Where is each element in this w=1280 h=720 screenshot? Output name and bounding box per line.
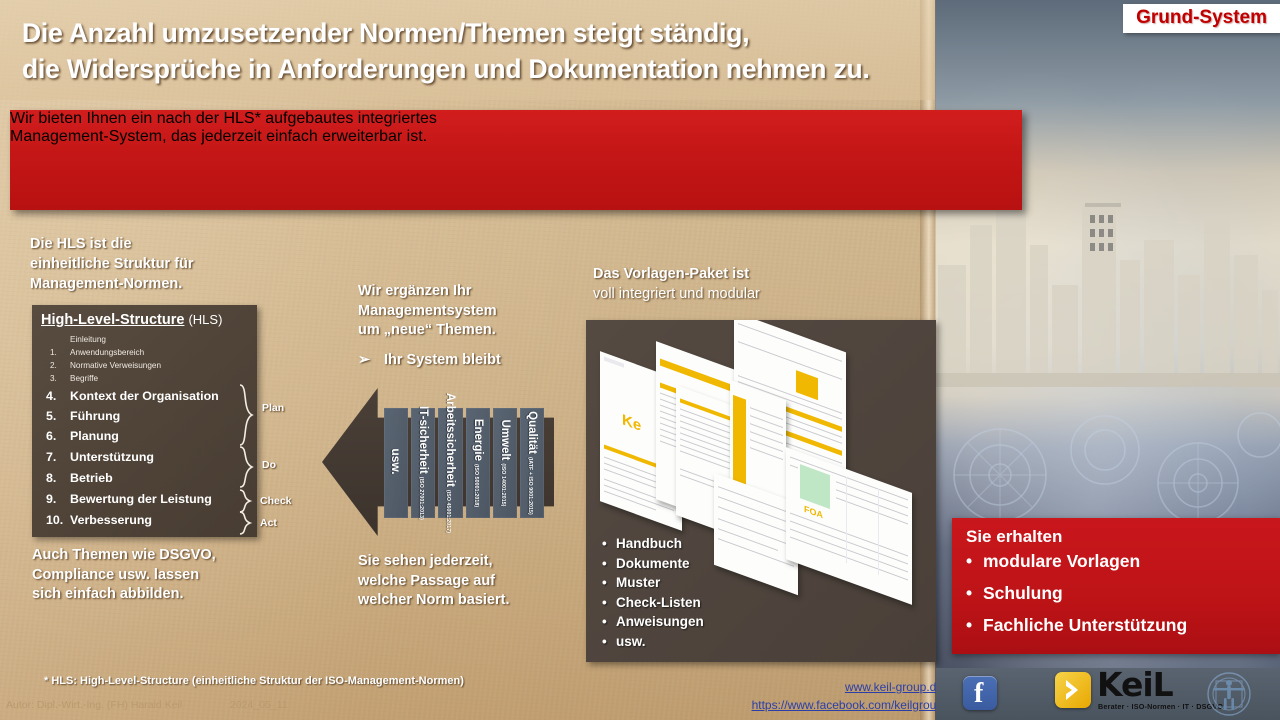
hls-major-label: Bewertung der Leistung [70,492,212,506]
hls-major-num: 6. [46,429,70,443]
list-item: •Anweisungen [602,612,704,632]
gears-graphic [930,395,1280,535]
hls-minor-item: 3.Begriffe [50,374,98,383]
left-note-line-1: Auch Themen wie DSGVO, [32,546,216,566]
bullet-icon: • [966,551,983,572]
pdca-label-check: Check [260,495,292,507]
bullet-icon: • [602,573,616,593]
docs-item-label: Muster [616,575,660,590]
hls-minor-item: Einleitung [50,335,106,344]
bullet-icon: • [602,612,616,632]
slide-canvas: Die Anzahl umzusetzender Normen/Themen s… [0,0,1280,720]
standard-bar-sub: (ISO 14001:2015) [500,463,506,506]
left-intro-line-3: Management-Normen. [30,274,194,294]
hls-minor-item: 2.Normative Verweisungen [50,361,161,370]
hls-major-label: Verbesserung [70,513,152,527]
title-line-2: die Widersprüche in Anforderungen und Do… [22,52,1022,88]
list-item: •Muster [602,573,704,593]
list-item: •modulare Vorlagen [966,551,1140,572]
docs-item-list: •Handbuch •Dokumente •Muster •Check-List… [602,534,704,651]
standard-bar-label: Qualität [526,411,538,454]
bullet-icon: • [966,583,983,604]
docs-item-label: usw. [616,634,646,649]
standard-bar-qualitaet: Qualität(IATF + ISO 9001:2015) [520,408,544,518]
standard-bar-energie: Energie(ISO 50001:2018) [466,408,490,518]
brand-wordmark: KeiL [1097,668,1173,701]
arrow-bullet-icon: ➢ [358,351,384,371]
bullet-icon: • [602,554,616,574]
footnote-text: * HLS: High-Level-Structure (einheitlich… [44,675,464,687]
website-link[interactable]: www.keil-group.de [703,678,943,696]
docs-item-label: Dokumente [616,556,690,571]
docs-title-line-2: voll integriert und modular [593,285,760,305]
bullet-icon: • [602,534,616,554]
left-intro-text: Die HLS ist die einheitliche Struktur fü… [30,234,194,294]
banner-line-1: Wir bieten Ihnen ein nach der HLS* aufge… [10,110,1022,128]
hls-minor-label: Begriffe [70,374,98,383]
title-line-1: Die Anzahl umzusetzender Normen/Themen s… [22,16,1022,52]
hls-major-item: 9.Bewertung der Leistung [46,492,212,506]
footer-links: www.keil-group.de https://www.facebook.c… [703,678,943,714]
left-note-text: Auch Themen wie DSGVO, Compliance usw. l… [32,546,216,605]
hls-minor-num: 1. [50,348,70,357]
pdca-label-act: Act [260,517,277,529]
brace-check-icon [236,489,258,513]
bullet-icon: • [602,632,616,652]
left-note-line-3: sich einfach abbilden. [32,585,216,605]
middle-bullet-row: ➢Ihr System bleibt [358,351,501,371]
standard-bar-sub: (IATF + ISO 9001:2015) [527,457,533,515]
hls-major-num: 7. [46,450,70,464]
middle-bullet-label: Ihr System bleibt [384,352,501,368]
docs-item-label: Check-Listen [616,595,701,610]
hls-heading-suffix: (HLS) [188,312,222,327]
document-sheet: FOA [786,447,912,605]
standard-bar-sub: (ISO 50001:2018) [473,464,479,507]
highlight-banner: Wir bieten Ihnen ein nach der HLS* aufge… [10,110,1022,210]
hls-minor-label: Einleitung [70,335,106,344]
date-text: 2024_05_11 [230,699,288,711]
standard-bar-arbeitssicherheit: Arbeitssicherheit(ISO 45001:2017) [438,408,462,518]
standard-bar-label: IT-sicherheit [417,406,429,474]
list-item: •usw. [602,632,704,652]
hls-minor-label: Anwendungsbereich [70,348,144,357]
hls-major-num: 10. [46,513,70,527]
hls-major-item: 6.Planung [46,429,119,443]
hls-major-label: Planung [70,429,119,443]
hls-major-num: 9. [46,492,70,506]
hls-major-num: 4. [46,389,70,403]
list-item: •Check-Listen [602,593,704,613]
docs-title: Das Vorlagen-Paket ist voll integriert u… [593,265,760,304]
standard-bar-label: usw. [389,448,403,474]
benefit-label: Schulung [983,583,1063,603]
hls-box-heading: High-Level-Structure (HLS) [41,312,222,328]
standard-bar-label: Umwelt [499,419,511,460]
standard-bar-sub: (ISO 45001:2017) [445,490,451,533]
hls-major-item: 4.Kontext der Organisation [46,389,219,403]
status-badge: Grund-System [1123,4,1280,33]
pdca-label-plan: Plan [262,402,284,414]
hls-major-item: 10.Verbesserung [46,513,152,527]
hls-major-label: Unterstützung [70,450,154,464]
left-intro-line-2: einheitliche Struktur für [30,254,194,274]
standard-bar-umwelt: Umwelt(ISO 14001:2015) [493,408,517,518]
hls-major-item: 5.Führung [46,409,120,423]
brace-plan-icon [236,384,262,446]
middle-note-text: Sie sehen jederzeit, welche Passage auf … [358,552,510,611]
page-title: Die Anzahl umzusetzender Normen/Themen s… [22,16,1022,87]
author-text: Autor: Dipl.-Wirt.-Ing. (FH) Harald Keil [6,699,182,711]
hls-minor-item: 1.Anwendungsbereich [50,348,144,357]
hls-major-item: 7.Unterstützung [46,450,154,464]
left-intro-line-1: Die HLS ist die [30,234,194,254]
middle-intro-line-2: Managementsystem [358,302,501,322]
middle-note-line-2: welche Passage auf [358,572,510,592]
hls-major-label: Führung [70,409,120,423]
benefit-label: Fachliche Unterstützung [983,615,1187,635]
pdca-label-do: Do [262,459,276,471]
benefits-heading: Sie erhalten [966,527,1062,547]
standard-bar-sub: (ISO 27001:2013) [418,477,424,520]
left-note-line-2: Compliance usw. lassen [32,566,216,586]
hls-major-item: 8.Betrieb [46,471,113,485]
standards-arrow: usw. IT-sicherheit(ISO 27001:2013) Arbei… [322,388,554,536]
hls-minor-num: 3. [50,374,70,383]
banner-line-2: Management-System, das jederzeit einfach… [10,128,1022,146]
standard-bar-it-sicherheit: IT-sicherheit(ISO 27001:2013) [411,408,435,518]
facebook-link[interactable]: https://www.facebook.com/keilgroup [703,696,943,714]
hls-heading-main: High-Level-Structure [41,312,184,328]
docs-title-line-1: Das Vorlagen-Paket ist [593,265,760,285]
middle-intro-line-1: Wir ergänzen Ihr [358,282,501,302]
middle-note-line-1: Sie sehen jederzeit, [358,552,510,572]
standard-bar-label: Arbeitssicherheit [444,393,456,487]
facebook-icon[interactable]: f [963,676,997,710]
docs-item-label: Handbuch [616,536,682,551]
middle-intro-line-3: um „neue“ Themen. [358,321,501,341]
hls-minor-num: 2. [50,361,70,370]
vitruvian-man-icon [1205,670,1253,718]
standards-bar-group: usw. IT-sicherheit(ISO 27001:2013) Arbei… [384,408,544,518]
middle-note-line-3: welcher Norm basiert. [358,591,510,611]
hls-major-num: 5. [46,409,70,423]
bullet-icon: • [966,615,983,636]
list-item: •Handbuch [602,534,704,554]
keil-logo-mark-icon [1055,672,1091,708]
benefit-label: modulare Vorlagen [983,551,1140,571]
hls-minor-label: Normative Verweisungen [70,361,161,370]
brace-do-icon [236,446,262,488]
list-item: •Fachliche Unterstützung [966,615,1187,636]
standard-bar-usw: usw. [384,408,408,518]
bullet-icon: • [602,593,616,613]
hls-structure-box: High-Level-Structure (HLS) Einleitung 1.… [32,305,257,537]
brace-act-icon [236,511,258,535]
benefits-box: Sie erhalten •modulare Vorlagen •Schulun… [952,518,1280,654]
docs-item-label: Anweisungen [616,614,704,629]
hls-major-num: 8. [46,471,70,485]
list-item: •Dokumente [602,554,704,574]
hls-major-label: Kontext der Organisation [70,389,219,403]
list-item: •Schulung [966,583,1063,604]
middle-intro-text: Wir ergänzen Ihr Managementsystem um „ne… [358,282,501,371]
hls-major-label: Betrieb [70,471,113,485]
sheet-logo-text: Ke [622,411,641,435]
standard-bar-label: Energie [472,419,484,461]
